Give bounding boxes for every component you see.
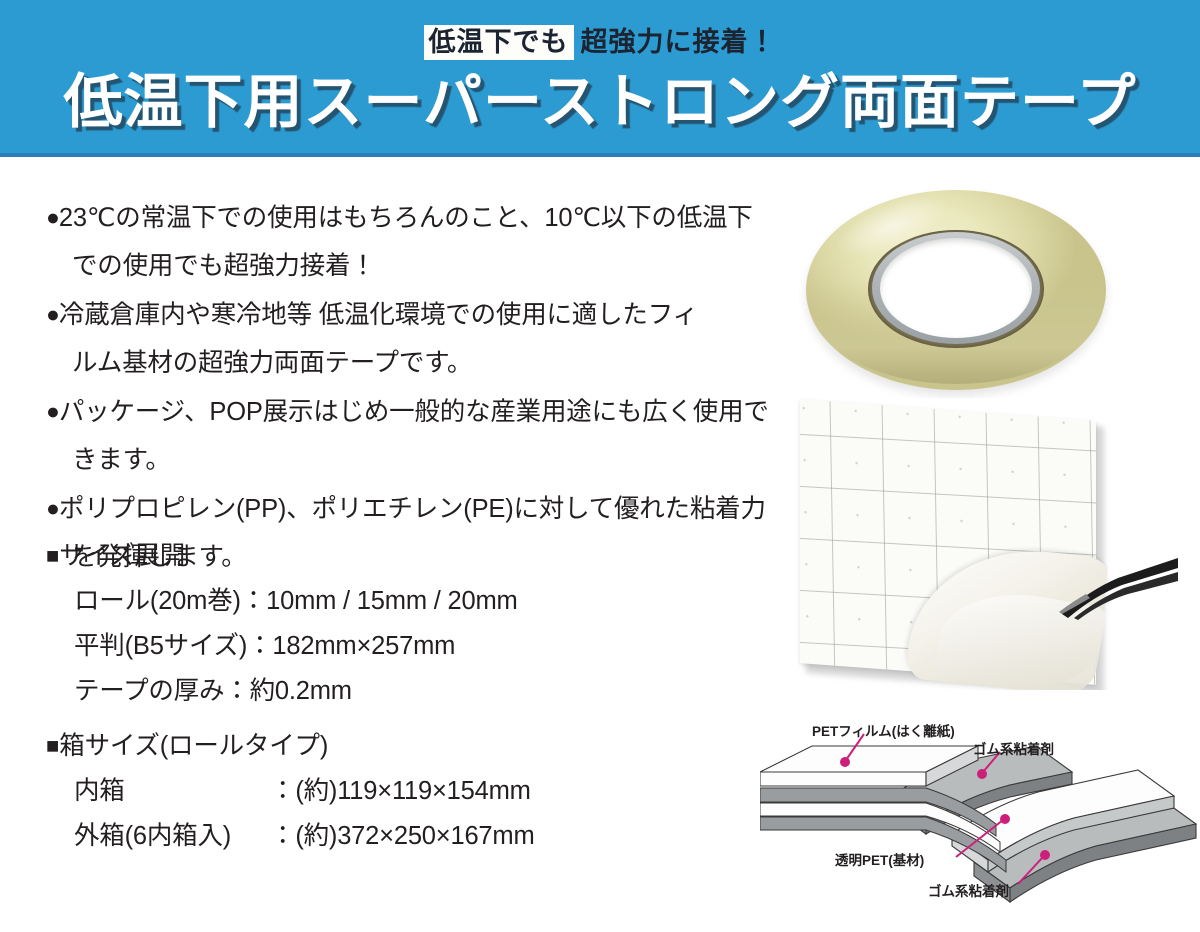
- list-item-text: ルム基材の超強力両面テープです。: [72, 349, 472, 377]
- spec-value: 約0.2mm: [250, 677, 352, 705]
- spec-row: 平判(B5サイズ)：182mm×257mm: [46, 624, 736, 669]
- list-item-text: での使用でも超強力接着！: [72, 252, 376, 280]
- spec-label: テープの厚み: [74, 669, 224, 714]
- list-item-continuation: ルム基材の超強力両面テープです。: [46, 339, 736, 387]
- spec-label: 外箱(6内箱入): [74, 814, 270, 859]
- release-paper-sheet-photo: [792, 398, 1200, 690]
- list-item-continuation: きます。: [46, 436, 736, 484]
- spec-separator: ：: [270, 777, 295, 805]
- list-item-text: ポリプロピレン(PP)、ポリエチレン(PE)に対して優れた粘着力: [59, 495, 766, 523]
- spec-separator: ：: [224, 677, 249, 705]
- spec-heading: ■箱サイズ(ロールタイプ): [46, 723, 736, 769]
- diagram-label-adhesive-top: ゴム系粘着剤: [973, 738, 1054, 758]
- tagline: 低温下でも超強力に接着！: [0, 24, 1200, 60]
- roll-center-hole: [880, 238, 1032, 338]
- square-bullet-icon: ■: [46, 733, 59, 758]
- spec-value: 10mm / 15mm / 20mm: [266, 587, 517, 615]
- product-spec-poster: 低温下でも超強力に接着！ 低温下用スーパーストロング両面テープ ●23℃の常温下…: [0, 0, 1200, 932]
- tape-roll-photo: [762, 182, 1200, 398]
- page-title: 低温下用スーパーストロング両面テープ: [0, 68, 1200, 136]
- spec-value: 182mm×257mm: [272, 632, 455, 660]
- spec-row: 外箱(6内箱入)：(約)372×250×167mm: [46, 814, 736, 859]
- layer-structure-diagram: PETフィルム(はく離紙) ゴム系粘着剤 透明PET(基材) ゴム系粘着剤: [760, 712, 1200, 932]
- header-banner: 低温下でも超強力に接着！ 低温下用スーパーストロング両面テープ: [0, 0, 1200, 157]
- bullet-icon: ●: [46, 398, 59, 424]
- tweezers-icon: [1028, 552, 1178, 622]
- list-item: ●冷蔵倉庫内や寒冷地等 低温化環境での使用に適したフィ: [46, 290, 736, 339]
- bullet-icon: ●: [46, 204, 59, 230]
- spec-row: 内箱：(約)119×119×154mm: [46, 769, 736, 814]
- tagline-highlight: 低温下でも: [424, 25, 574, 60]
- bullet-icon: ●: [46, 495, 59, 521]
- list-item-text: パッケージ、POP展示はじめ一般的な産業用途にも広く使用で: [59, 398, 769, 426]
- spec-separator: ：: [247, 632, 272, 660]
- spec-value: (約)119×119×154mm: [295, 777, 530, 805]
- diagram-label-adhesive-bottom: ゴム系粘着剤: [928, 880, 1009, 900]
- spec-label: 内箱: [74, 769, 270, 814]
- tagline-rest: 超強力に接着！: [581, 27, 777, 57]
- spec-heading: ■サイズ展開: [46, 533, 736, 579]
- list-item: ●23℃の常温下での使用はもちろんのこと、10℃以下の低温下: [46, 193, 736, 242]
- list-item-continuation: での使用でも超強力接着！: [46, 242, 736, 290]
- list-item: ●ポリプロピレン(PP)、ポリエチレン(PE)に対して優れた粘着力: [46, 484, 736, 533]
- spec-label: 平判(B5サイズ): [74, 624, 247, 669]
- spec-section-box-sizes: ■箱サイズ(ロールタイプ) 内箱：(約)119×119×154mm 外箱(6内箱…: [46, 723, 736, 859]
- diagram-label-pet-film: PETフィルム(はく離紙): [812, 720, 955, 740]
- square-bullet-icon: ■: [46, 543, 59, 568]
- list-item-text: きます。: [72, 446, 171, 474]
- list-item-text: 23℃の常温下での使用はもちろんのこと、10℃以下の低温下: [59, 204, 753, 232]
- bullet-icon: ●: [46, 301, 59, 327]
- spec-row: ロール(20m巻)：10mm / 15mm / 20mm: [46, 579, 736, 624]
- spec-section-sizes: ■サイズ展開 ロール(20m巻)：10mm / 15mm / 20mm 平判(B…: [46, 533, 736, 714]
- layer-pet-film-front-edge: [760, 772, 926, 786]
- feature-list: ●23℃の常温下での使用はもちろんのこと、10℃以下の低温下 での使用でも超強力…: [46, 193, 736, 581]
- diagram-label-clear-pet: 透明PET(基材): [835, 849, 924, 869]
- spec-heading-text: 箱サイズ(ロールタイプ): [59, 732, 328, 760]
- list-item-text: 冷蔵倉庫内や寒冷地等 低温化環境での使用に適したフィ: [59, 301, 698, 329]
- spec-separator: ：: [241, 587, 266, 615]
- spec-heading-text: サイズ展開: [59, 542, 185, 570]
- list-item: ●パッケージ、POP展示はじめ一般的な産業用途にも広く使用で: [46, 387, 736, 436]
- spec-separator: ：: [270, 822, 295, 850]
- tape-roll-graphic: [806, 190, 1106, 390]
- spec-value: (約)372×250×167mm: [295, 822, 534, 850]
- spec-label: ロール(20m巻): [74, 579, 241, 624]
- spec-row: テープの厚み：約0.2mm: [46, 669, 736, 714]
